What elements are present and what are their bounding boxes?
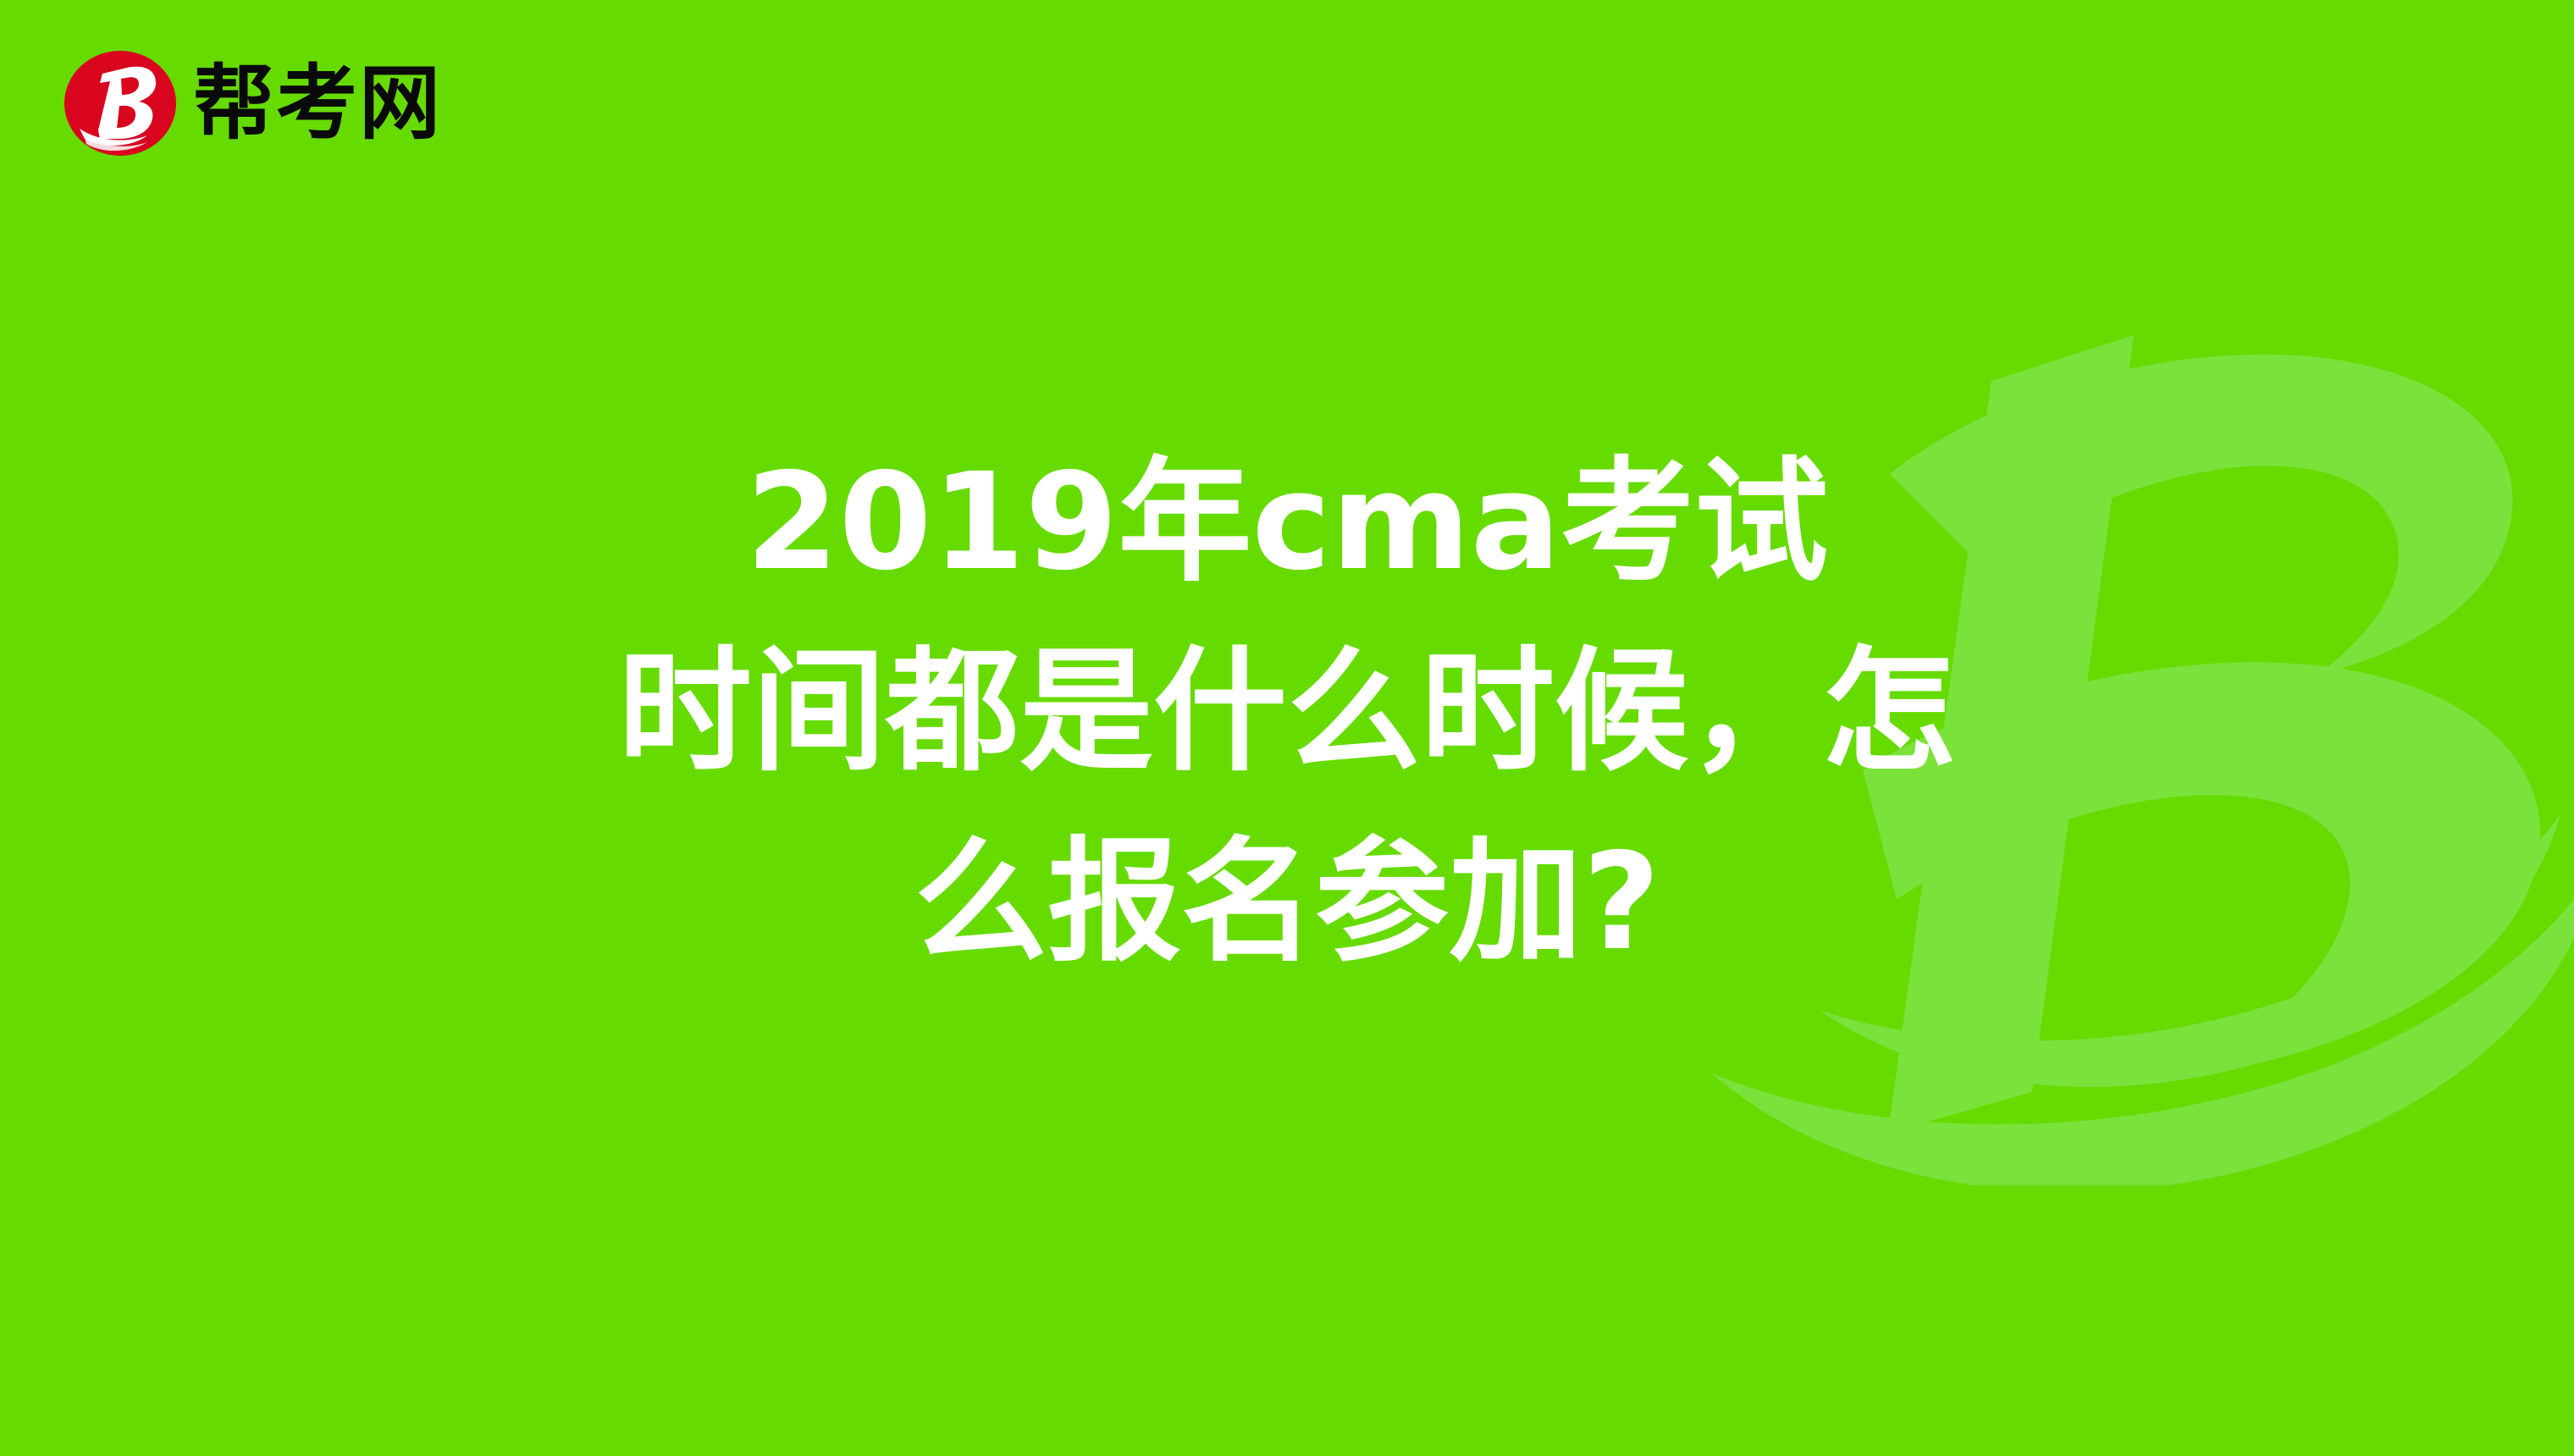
- logo-wordmark-text: 帮考网: [193, 63, 442, 144]
- poster-canvas: 帮考网 2019年cma考试 时间都是什么时候，怎 么报名参加?: [0, 0, 2574, 1456]
- title-line-1: 2019年cma考试: [51, 427, 2523, 617]
- site-logo[interactable]: 帮考网: [63, 49, 442, 157]
- title-line-3: 么报名参加?: [51, 808, 2523, 997]
- bangkao-b-badge-icon: [63, 49, 178, 157]
- logo-wordmark: 帮考网: [193, 57, 442, 150]
- page-title: 2019年cma考试 时间都是什么时候，怎 么报名参加?: [0, 427, 2574, 997]
- title-line-2: 时间都是什么时候，怎: [51, 617, 2523, 807]
